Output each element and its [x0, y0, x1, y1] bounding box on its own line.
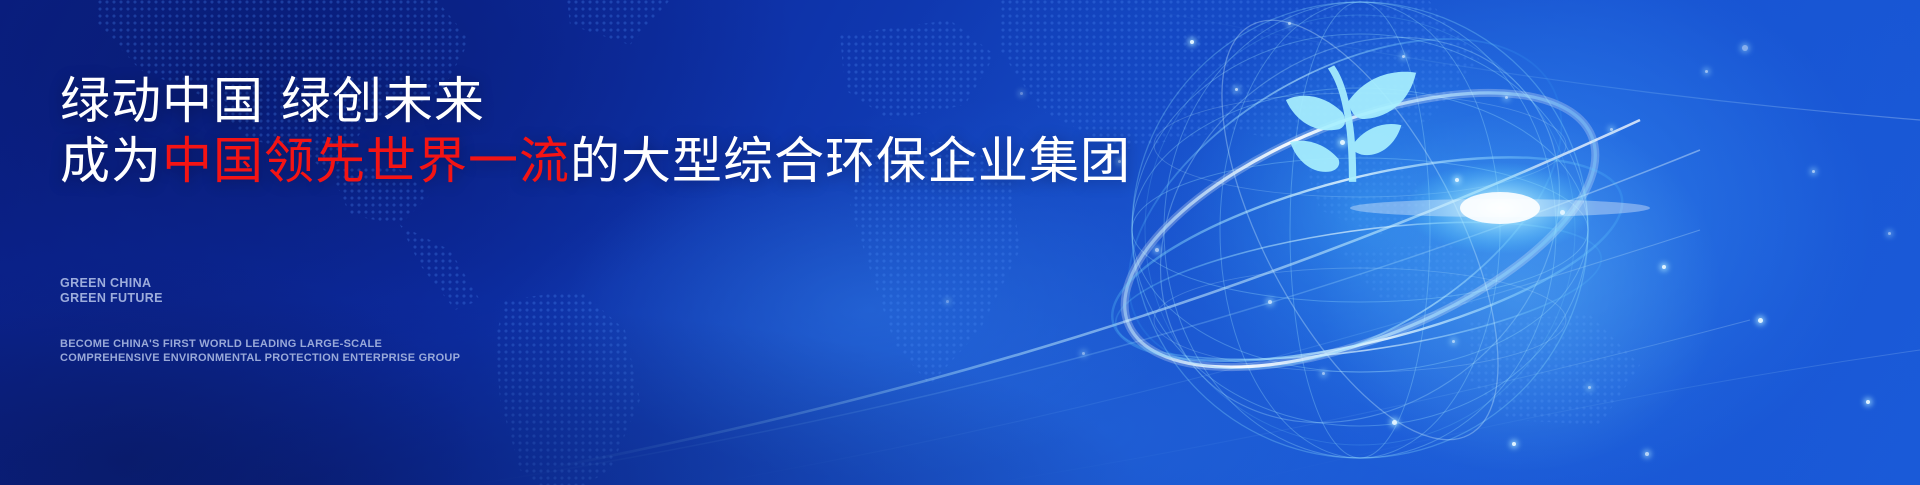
description-line-2: COMPREHENSIVE ENVIRONMENTAL PROTECTION E…: [60, 352, 1060, 366]
background-glow-globe: [1310, 100, 1730, 480]
headline-prefix: 成为: [60, 132, 162, 190]
headline-line-1: 绿动中国 绿创未来: [60, 72, 1060, 130]
tagline-english: GREEN CHINA GREEN FUTURE: [60, 276, 1060, 306]
tagline-line-1: GREEN CHINA: [60, 276, 1060, 291]
description-english: BECOME CHINA'S FIRST WORLD LEADING LARGE…: [60, 338, 1060, 365]
headline-highlight: 中国领先世界一流: [162, 132, 570, 190]
hero-banner: 绿动中国 绿创未来 成为中国领先世界一流的大型综合环保企业集团 GREEN CH…: [0, 0, 1920, 485]
tagline-line-2: GREEN FUTURE: [60, 291, 1060, 306]
background-glow-right: [1180, 0, 1880, 485]
green-sprout-icon: [1286, 65, 1416, 182]
headline-line-2: 成为中国领先世界一流的大型综合环保企业集团: [60, 132, 1060, 190]
headline-suffix: 的大型综合环保企业集团: [570, 132, 1131, 190]
banner-copy: 绿动中国 绿创未来 成为中国领先世界一流的大型综合环保企业集团 GREEN CH…: [60, 72, 1060, 365]
description-line-1: BECOME CHINA'S FIRST WORLD LEADING LARGE…: [60, 338, 1060, 352]
wireframe-globe-icon: [1050, 0, 1670, 485]
